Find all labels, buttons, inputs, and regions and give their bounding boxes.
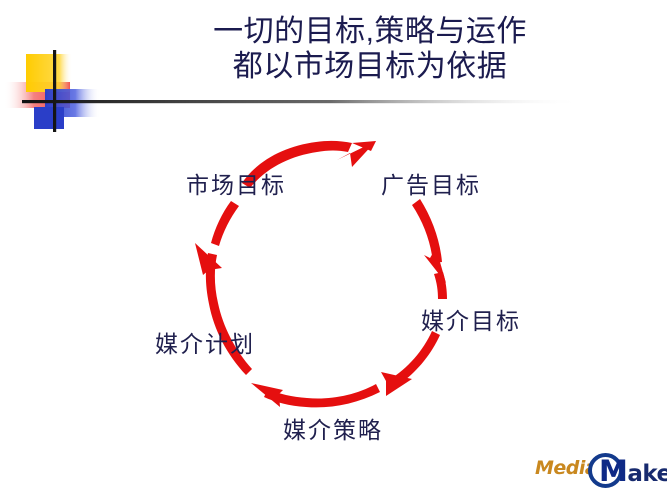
cycle-label-market-objective: 市场目标 (186, 166, 286, 200)
cycle-label-media-plan: 媒介计划 (155, 325, 255, 359)
cycle-label-media-objective: 媒介目标 (421, 302, 521, 336)
arrow-strategy-to-plan-head (251, 383, 283, 407)
arrow-strategy-to-plan (264, 384, 380, 407)
cycle-diagram: 市场目标 广告目标 媒介目标 媒介策略 媒介计划 (0, 0, 667, 500)
logo-maker-rest: aker (627, 461, 667, 487)
logo-maker-initial: M (599, 454, 627, 488)
logo-maker-word: Maker (599, 454, 667, 488)
slide-canvas: 一切的目标,策略与运作 都以市场目标为依据 (0, 0, 667, 500)
arrow-ad-stem-lower (434, 272, 447, 299)
arrow-plan-stem-upper (211, 201, 239, 246)
media-maker-logo: Media Maker (533, 449, 663, 495)
cycle-label-ad-objective: 广告目标 (381, 166, 481, 200)
arrow-plan-to-market-head (195, 243, 222, 275)
cycle-label-media-strategy: 媒介策略 (283, 411, 383, 445)
